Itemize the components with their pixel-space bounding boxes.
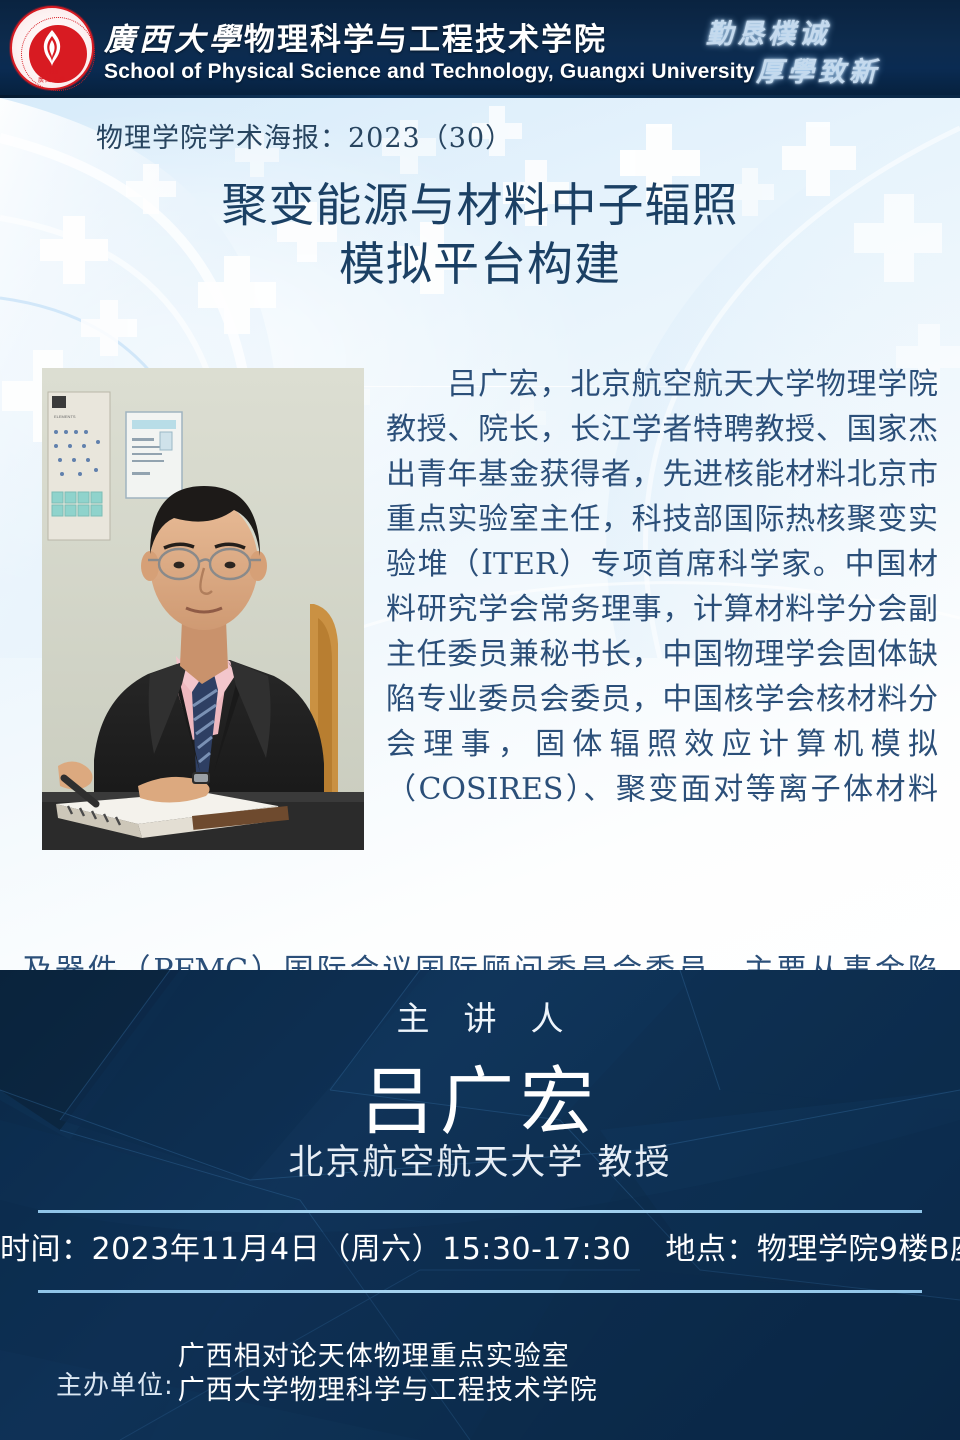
poster-series-label: 物理学院学术海报：2023（30） [96,116,513,155]
poster-upper-section: 物理学院学术海报：2023（30） 聚变能源与材料中子辐照 模拟平台构建 [0,98,960,970]
event-place-label: 地点： [665,1232,757,1267]
event-time-value: 2023年11月4日（周六）15:30-17:30 [92,1232,632,1267]
school-name-cn: 物理科学与工程技术学院 [244,22,607,58]
speaker-name: 吕广宏 [0,1042,960,1149]
university-seal-logo: 1928 廣西大學 [6,2,98,94]
title-line-2: 模拟平台构建 [0,235,960,294]
organizer-list: 广西相对论天体物理重点实验室 广西大学物理科学与工程技术学院 [178,1340,598,1408]
bio-paragraph-main: 吕广宏，北京航空航天大学物理学院教授、院长，长江学者特聘教授、国家杰出青年基金获… [386,362,938,812]
page-header: 1928 廣西大學 廣西大學物理科学与工程技术学院 School of Phys… [0,0,960,98]
event-divider-top [38,1210,922,1213]
motto-line-1: 勤恳樸诚 [706,12,830,51]
speaker-affiliation: 北京航空航天大学 教授 [0,1134,960,1185]
seal-bottom-text: 廣西大學 [38,75,66,84]
organizer-item: 广西大学物理科学与工程技术学院 [178,1374,598,1408]
speaker-label: 主讲人 [0,992,960,1040]
bio-paragraph-tail: 及器件（PFMC）国际会议国际顾问委员会委员。主要从事金陷 物理方面的研究工作。 [22,948,938,970]
event-time-label: 时间： [0,1232,92,1267]
flame-icon [37,28,67,68]
poster-lower-section: 主讲人 吕广宏 北京航空航天大学 教授 时间：2023年11月4日（周六）15:… [0,970,960,1440]
event-details: 时间：2023年11月4日（周六）15:30-17:30地点：物理学院9楼B座天… [0,1224,960,1268]
university-motto: 勤恳樸诚 厚學致新 [696,6,946,92]
organizer-item: 广西相对论天体物理重点实验室 [178,1340,598,1374]
organizer-label: 主办单位: [56,1365,174,1408]
motto-line-2: 厚學致新 [756,50,880,89]
event-place-value: 物理学院9楼B座天象馆 [757,1232,960,1267]
page-title: 聚变能源与材料中子辐照 模拟平台构建 [0,176,960,294]
event-divider-bottom [38,1290,922,1293]
bio-tail-line-1: 及器件（PFMC）国际会议国际顾问委员会委员。主要从事金陷 [22,948,938,970]
header-institution-en: School of Physical Science and Technolog… [104,60,755,84]
title-line-1: 聚变能源与材料中子辐照 [0,176,960,235]
speaker-bio: 吕广宏，北京航空航天大学物理学院教授、院长，长江学者特聘教授、国家杰出青年基金获… [0,362,960,962]
header-institution-cn: 廣西大學物理科学与工程技术学院 [104,14,607,59]
university-name-cn: 廣西大學 [104,22,244,58]
organizer-block: 主办单位: 广西相对论天体物理重点实验室 广西大学物理科学与工程技术学院 [56,1340,598,1408]
